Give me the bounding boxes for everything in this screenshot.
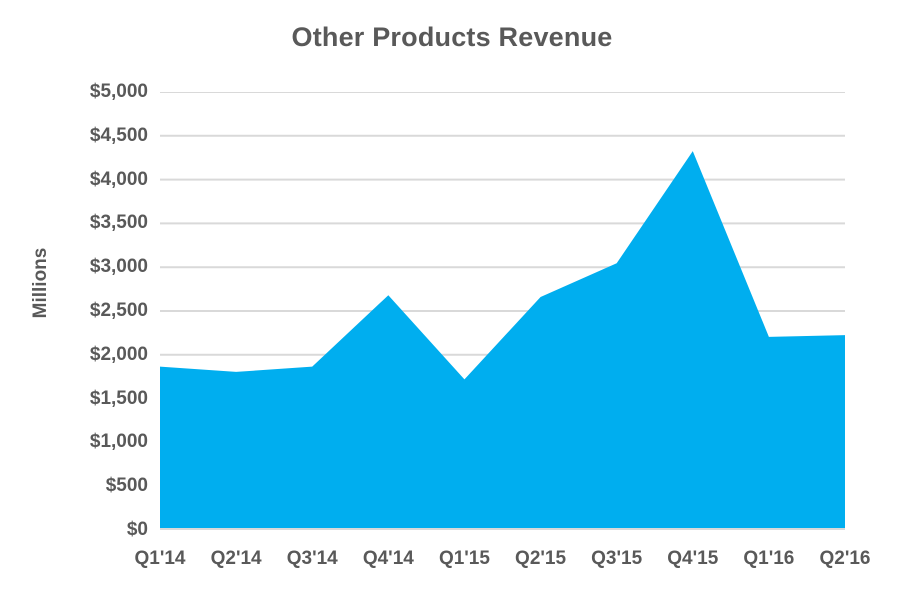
y-tick-label: $2,500	[8, 300, 148, 322]
y-tick-label: $500	[8, 475, 148, 497]
plot-area	[160, 92, 845, 530]
y-tick-label: $3,500	[8, 212, 148, 234]
y-axis-tick-labels: $5,000$4,500$4,000$3,500$3,000$2,500$2,0…	[8, 92, 148, 530]
area-series-other-products-revenue	[160, 151, 845, 530]
y-tick-label: $4,500	[8, 125, 148, 147]
y-tick-label: $4,000	[8, 169, 148, 191]
y-tick-label: $5,000	[8, 81, 148, 103]
x-axis-tick-labels: Q1'14Q2'14Q3'14Q4'14Q1'15Q2'15Q3'15Q4'15…	[160, 548, 845, 580]
y-tick-label: $1,000	[8, 431, 148, 453]
x-tick-label: Q2'16	[795, 548, 895, 570]
y-tick-label: $2,000	[8, 344, 148, 366]
y-tick-label: $1,500	[8, 388, 148, 410]
y-tick-label: $0	[8, 519, 148, 541]
chart-title: Other Products Revenue	[0, 22, 904, 53]
area-chart: Other Products Revenue Millions $5,000$4…	[0, 0, 904, 605]
plot-svg	[160, 92, 845, 530]
y-tick-label: $3,000	[8, 256, 148, 278]
